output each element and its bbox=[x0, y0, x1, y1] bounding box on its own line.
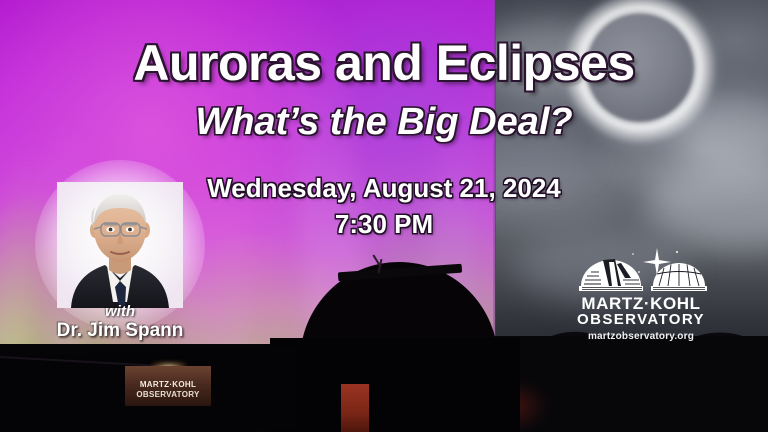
open-dome-icon bbox=[579, 259, 643, 291]
closed-dome-icon bbox=[651, 263, 707, 291]
logo-line2: OBSERVATORY bbox=[565, 311, 717, 328]
page-subtitle: What’s the Big Deal? bbox=[0, 101, 768, 144]
event-date: Wednesday, August 21, 2024 bbox=[0, 173, 768, 204]
building-sign-line1: MARTZ·KOHL bbox=[125, 380, 211, 389]
observatory-building bbox=[270, 338, 520, 432]
speaker-name: Dr. Jim Spann bbox=[28, 320, 212, 342]
event-time: 7:30 PM bbox=[0, 209, 768, 240]
speaker-with-label: with bbox=[38, 303, 202, 320]
logo-website-url: martzobservatory.org bbox=[565, 331, 717, 342]
event-poster: MARTZ·KOHL OBSERVATORY bbox=[0, 0, 768, 432]
building-sign-line2: OBSERVATORY bbox=[125, 390, 211, 399]
observatory-logo: MARTZ·KOHL OBSERVATORY martzobservatory.… bbox=[565, 246, 717, 346]
observatory-domes-icon bbox=[565, 246, 717, 294]
lit-doorway bbox=[341, 384, 369, 432]
page-title: Auroras and Eclipses bbox=[0, 34, 768, 92]
